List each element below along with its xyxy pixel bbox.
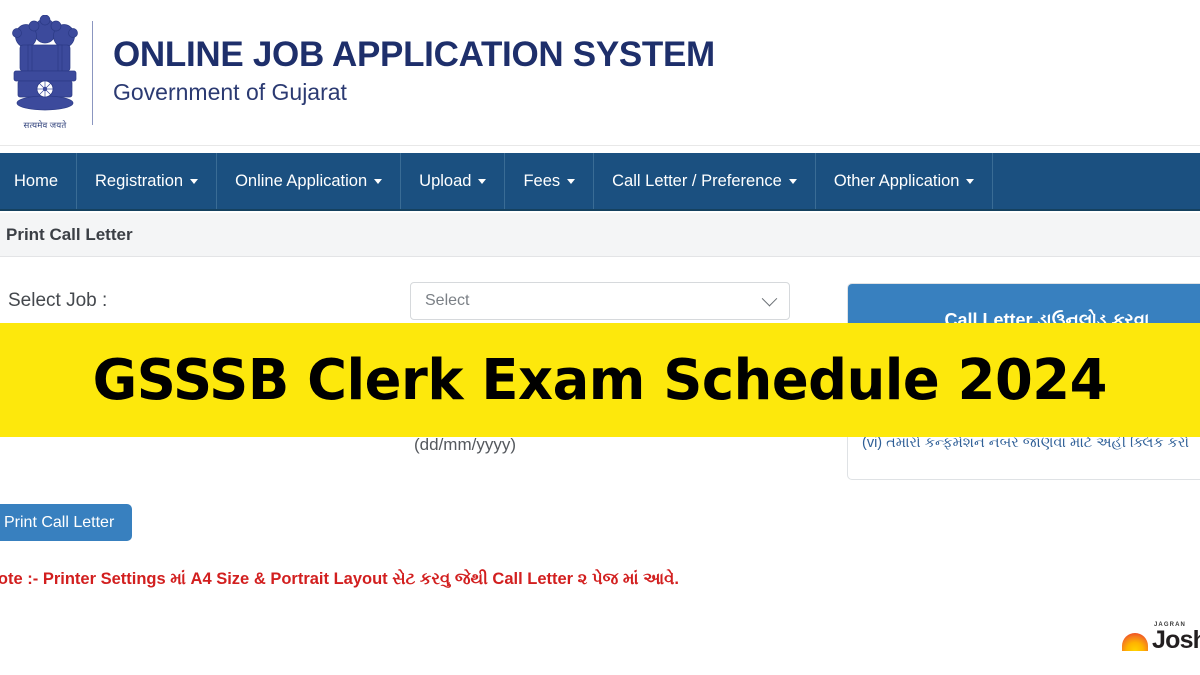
nav-item-home[interactable]: Home [0, 153, 77, 209]
josh-sun-logo-icon [1122, 633, 1148, 651]
jagran-josh-watermark: JAGRAN Josh [1122, 622, 1200, 653]
print-call-letter-button[interactable]: Print Call Letter [0, 504, 132, 541]
nav-item-fees[interactable]: Fees [505, 153, 594, 209]
emblem-motto: सत्यमेव जयते [24, 120, 67, 131]
nav-item-label: Other Application [834, 172, 960, 191]
header-text-block: ONLINE JOB APPLICATION SYSTEM Government… [113, 37, 715, 108]
nav-item-label: Online Application [235, 172, 367, 191]
nav-item-call-letter-preference[interactable]: Call Letter / Preference [594, 153, 816, 209]
overlay-banner: GSSSB Clerk Exam Schedule 2024 [0, 323, 1200, 437]
page-titlebar: Print Call Letter [0, 213, 1200, 257]
chevron-down-icon [190, 179, 198, 184]
chevron-down-icon [374, 179, 382, 184]
site-subtitle: Government of Gujarat [113, 77, 715, 108]
overlay-banner-text: GSSSB Clerk Exam Schedule 2024 [93, 348, 1107, 413]
josh-brand-main: Josh [1152, 629, 1200, 653]
select-job-value: Select [425, 292, 469, 310]
chevron-down-icon [762, 290, 778, 306]
chevron-down-icon [478, 179, 486, 184]
chevron-down-icon [966, 179, 974, 184]
ashoka-lion-capital-emblem: सत्यमेव जयते [2, 7, 88, 139]
main-navigation[interactable]: Home Registration Online Application Upl… [0, 153, 1200, 211]
select-job-row: Select Job : Select [0, 282, 800, 320]
header-divider [92, 21, 93, 125]
nav-item-other-application[interactable]: Other Application [816, 153, 994, 209]
nav-item-label: Home [14, 172, 58, 191]
nav-item-online-application[interactable]: Online Application [217, 153, 401, 209]
date-format-hint: (dd/mm/yyyy) [414, 435, 516, 455]
nav-item-upload[interactable]: Upload [401, 153, 505, 209]
select-job-label: Select Job : [0, 290, 410, 312]
nav-filler [993, 153, 1200, 209]
nav-item-label: Call Letter / Preference [612, 172, 782, 191]
page-title: Print Call Letter [0, 225, 133, 245]
josh-text-block: JAGRAN Josh [1152, 622, 1200, 653]
site-header: सत्यमेव जयते ONLINE JOB APPLICATION SYST… [0, 0, 1200, 146]
select-job-dropdown[interactable]: Select [410, 282, 790, 320]
chevron-down-icon [789, 179, 797, 184]
nav-item-registration[interactable]: Registration [77, 153, 217, 209]
nav-item-label: Fees [523, 172, 560, 191]
site-title: ONLINE JOB APPLICATION SYSTEM [113, 37, 715, 74]
chevron-down-icon [567, 179, 575, 184]
nav-item-label: Upload [419, 172, 471, 191]
printer-settings-note: Note :- Printer Settings માં A4 Size & P… [0, 570, 679, 589]
nav-item-label: Registration [95, 172, 183, 191]
